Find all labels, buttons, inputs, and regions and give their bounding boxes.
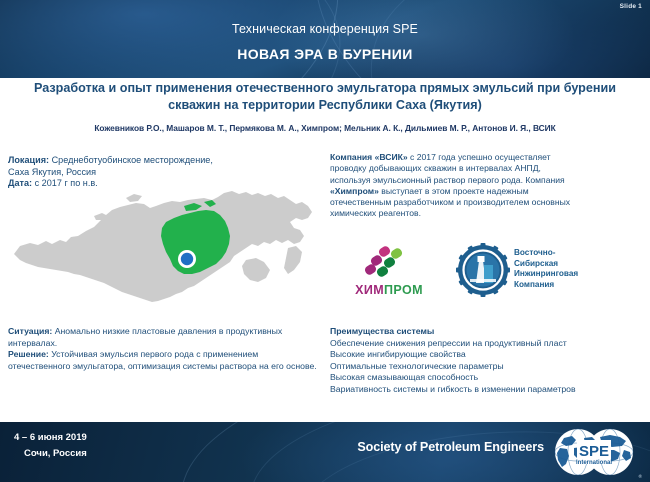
partner-logos: ХИМПРОМ: [330, 243, 642, 305]
map-island-shape: [126, 194, 142, 202]
vsik-logo: Восточно- Сибирская Инжинринговая Компан…: [456, 243, 642, 303]
page-title: Разработка и опыт применения отечественн…: [0, 80, 650, 114]
spe-logo: SPE International: [544, 426, 644, 478]
spe-logo-subtext: International: [576, 460, 612, 466]
vsik-wordmark-line3: Инжинринговая: [514, 269, 578, 280]
header-glow-decoration: [273, 0, 573, 78]
himprom-logo-mark: [335, 245, 443, 285]
advantages-item: Вариативность системы и гибкость в измен…: [330, 384, 642, 396]
solution-label: Решение:: [8, 349, 49, 359]
situation-block: Ситуация: Аномально низкие пластовые дав…: [8, 326, 318, 372]
footer-event-city: Сочи, Россия: [24, 448, 87, 459]
advantages-item: Оптимальные технологические параметры: [330, 361, 642, 373]
map-kamchatka-shape: [284, 246, 302, 274]
advantages-title: Преимущества системы: [330, 326, 642, 338]
himprom-wordmark-part1: ХИМ: [355, 283, 384, 297]
vsik-logo-wordmark: Восточно- Сибирская Инжинринговая Компан…: [514, 248, 578, 290]
vsik-wordmark-line4: Компания: [514, 280, 578, 291]
presentation-slide: Slide 1 Техническая конференция SPE НОВА…: [0, 0, 650, 482]
location-label: Локация:: [8, 155, 49, 165]
location-value-line1: Среднеботуобинское месторождение,: [52, 155, 213, 165]
spe-logo-svg: SPE International: [544, 426, 644, 478]
page-title-line2: скважин на территории Республики Саха (Я…: [168, 98, 482, 112]
slide-number-label: Slide 1: [620, 3, 642, 10]
description-company-vsik: «ВСИК»: [375, 152, 408, 162]
advantages-item: Обеспечение снижения репрессии на продук…: [330, 338, 642, 350]
himprom-logo-wordmark: ХИМПРОМ: [335, 283, 443, 297]
situation-label: Ситуация:: [8, 326, 52, 336]
description-line1-pre: Компания: [330, 152, 375, 162]
description-line2: проводку добывающих скважин в интервалах…: [330, 163, 541, 173]
advantages-item: Высокая смазывающая способность: [330, 372, 642, 384]
map-country-shape: [14, 191, 312, 302]
description-line3: используя эмульсионный раствор первого р…: [330, 175, 565, 185]
vsik-wordmark-line2: Сибирская: [514, 259, 578, 270]
himprom-logo: ХИМПРОМ: [335, 245, 443, 303]
footer-event-date: 4 – 6 июня 2019: [14, 432, 87, 443]
registered-mark: ®: [639, 474, 642, 479]
footer-organization-name: Society of Petroleum Engineers: [357, 440, 544, 454]
vsik-logo-mark: [456, 243, 510, 297]
slide-footer: 4 – 6 июня 2019 Сочи, Россия Society of …: [0, 422, 650, 482]
conference-theme: НОВАЯ ЭРА В БУРЕНИИ: [0, 46, 650, 62]
header-swoosh-decoration: [344, 0, 650, 78]
map-southeast-shape: [242, 258, 270, 282]
header-swoosh-decoration: [0, 0, 357, 78]
vsik-gear-icon: [456, 243, 510, 297]
header-swoosh-decoration: [0, 0, 368, 78]
advantages-item: Высокие ингибирующие свойства: [330, 349, 642, 361]
header-swoosh-decoration: [273, 0, 650, 78]
himprom-wordmark-part2: ПРОМ: [384, 283, 423, 297]
russia-map-svg: [8, 182, 318, 317]
location-value-line2: Саха Якутия, Россия: [8, 167, 96, 177]
solution-text: Устойчивая эмульсия первого рода с приме…: [8, 349, 317, 371]
russia-map: [8, 182, 318, 317]
slide-header: Slide 1 Техническая конференция SPE НОВА…: [0, 0, 650, 78]
conference-name: Техническая конференция SPE: [0, 22, 650, 36]
title-block: Разработка и опыт применения отечественн…: [0, 80, 650, 133]
description-line6: химических реагентов.: [330, 208, 421, 218]
description-line4-post: выступает в этом проекте надежным: [379, 186, 529, 196]
description-company-himprom: «Химпром»: [330, 186, 379, 196]
advantages-block: Преимущества системы Обеспечение снижени…: [330, 326, 642, 396]
map-marker-dot: [181, 253, 193, 265]
authors-line: Кожевников Р.О., Машаров М. Т., Пермяков…: [0, 123, 650, 133]
vsik-wordmark-line1: Восточно-: [514, 248, 578, 259]
description-line1-post: с 2017 года успешно осуществляет: [408, 152, 551, 162]
page-title-line1: Разработка и опыт применения отечественн…: [34, 81, 616, 95]
description-line5: отечественным разработчиком и производит…: [330, 197, 570, 207]
spe-logo-text: SPE: [579, 443, 609, 460]
project-description: Компания «ВСИК» с 2017 года успешно осущ…: [330, 152, 642, 220]
